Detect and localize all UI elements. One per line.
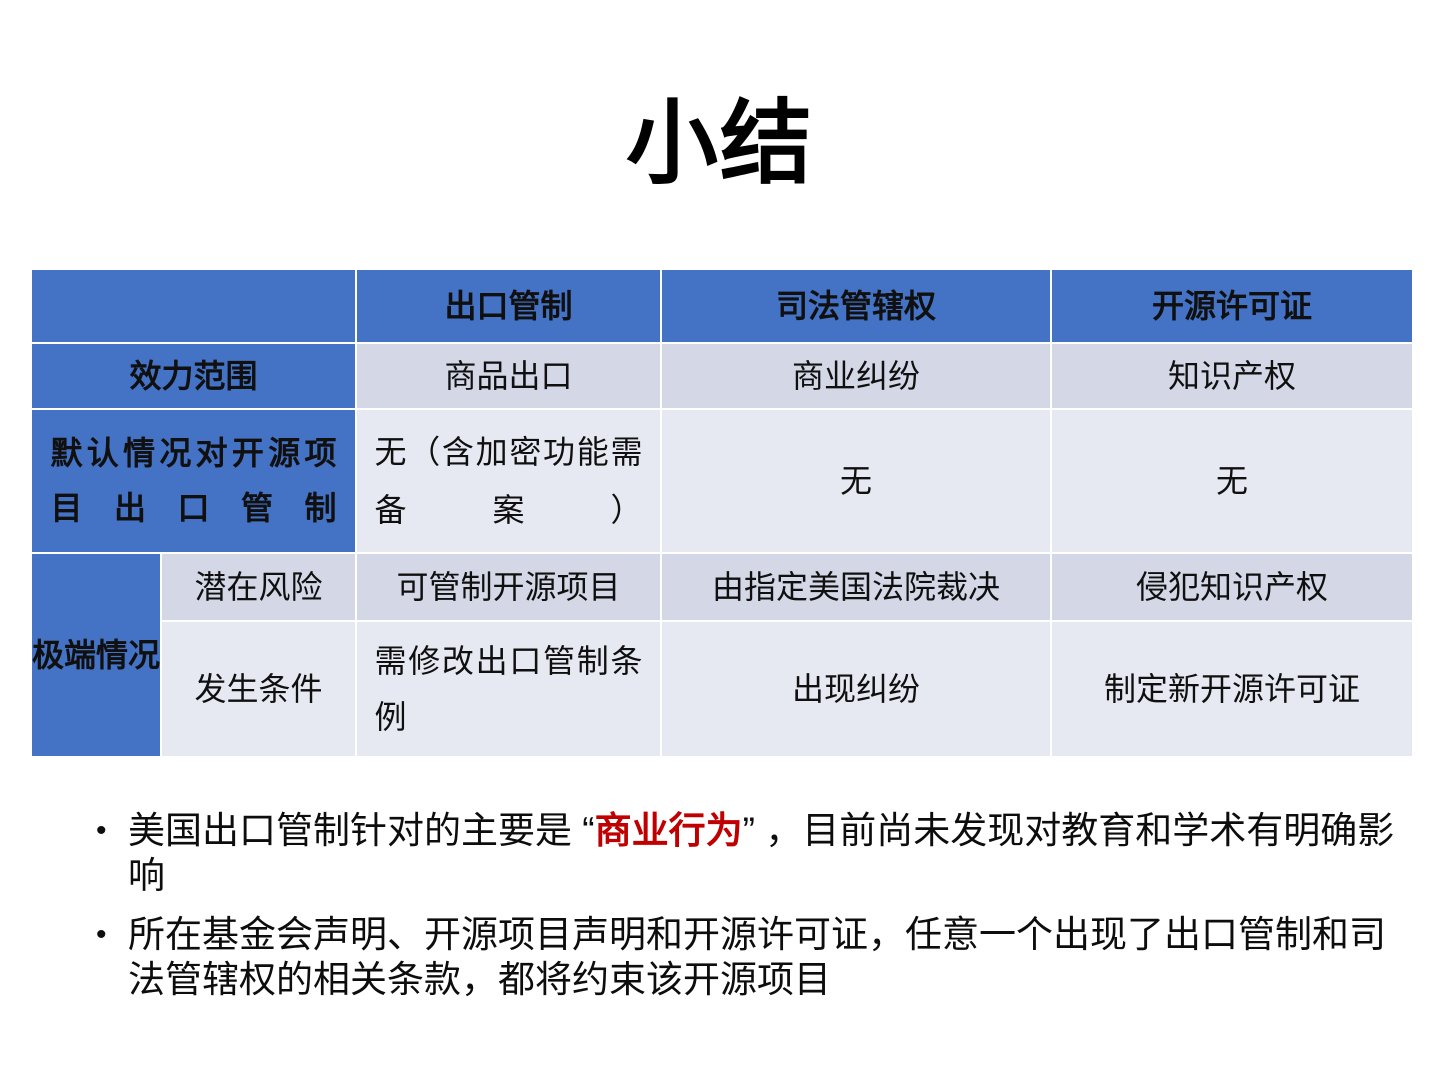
cell-condition-jurisdiction: 出现纠纷 bbox=[662, 622, 1050, 756]
list-item: • 所在基金会声明、开源项目声明和开源许可证，任意一个出现了出口管制和司法管辖权… bbox=[96, 912, 1396, 1002]
bullet-text-2: 所在基金会声明、开源项目声明和开源许可证，任意一个出现了出口管制和司法管辖权的相… bbox=[128, 912, 1396, 1002]
comparison-table: 出口管制 司法管辖权 开源许可证 效力范围 商品出口 商业纠纷 知识产权 默认情… bbox=[30, 268, 1414, 758]
sub-label-trigger-condition: 发生条件 bbox=[162, 622, 355, 756]
table-row: 极端情况 潜在风险 可管制开源项目 由指定美国法院裁决 侵犯知识产权 bbox=[32, 554, 1412, 620]
row-label-scope: 效力范围 bbox=[32, 344, 355, 408]
table-header-col-license: 开源许可证 bbox=[1052, 270, 1412, 342]
bullet-1-pre: 美国出口管制针对的主要是 “ bbox=[128, 810, 595, 851]
row-label-default-control: 默认情况对开源项目出口管制 bbox=[32, 410, 355, 552]
cell-condition-license: 制定新开源许可证 bbox=[1052, 622, 1412, 756]
table-header-row: 出口管制 司法管辖权 开源许可证 bbox=[32, 270, 1412, 342]
page-title: 小结 bbox=[0, 92, 1440, 196]
cell-default-export-control: 无（含加密功能需备案） bbox=[357, 410, 660, 552]
cell-scope-export-control: 商品出口 bbox=[357, 344, 660, 408]
cell-default-license: 无 bbox=[1052, 410, 1412, 552]
cell-condition-export-control-text: 需修改出口管制条例 bbox=[375, 633, 643, 745]
table-header-col-jurisdiction: 司法管辖权 bbox=[662, 270, 1050, 342]
bullet-marker-icon: • bbox=[96, 912, 128, 957]
cell-scope-license: 知识产权 bbox=[1052, 344, 1412, 408]
row-group-label-extreme: 极端情况 bbox=[32, 554, 160, 756]
cell-risk-export-control: 可管制开源项目 bbox=[357, 554, 660, 620]
bullet-list: • 美国出口管制针对的主要是 “商业行为” ，目前尚未发现对教育和学术有明确影响… bbox=[96, 808, 1396, 1016]
cell-risk-license: 侵犯知识产权 bbox=[1052, 554, 1412, 620]
table-header-col-export-control: 出口管制 bbox=[357, 270, 660, 342]
cell-default-export-control-text: 无（含加密功能需备案） bbox=[375, 423, 643, 539]
table-header-corner bbox=[32, 270, 355, 342]
table-row: 发生条件 需修改出口管制条例 出现纠纷 制定新开源许可证 bbox=[32, 622, 1412, 756]
bullet-marker-icon: • bbox=[96, 808, 128, 853]
bullet-text-1: 美国出口管制针对的主要是 “商业行为” ，目前尚未发现对教育和学术有明确影响 bbox=[128, 808, 1396, 898]
row-group-label-extreme-text: 极端情况 bbox=[32, 637, 160, 673]
bullet-1-highlight: 商业行为 bbox=[595, 810, 743, 851]
cell-default-jurisdiction: 无 bbox=[662, 410, 1050, 552]
table-row: 默认情况对开源项目出口管制 无（含加密功能需备案） 无 无 bbox=[32, 410, 1412, 552]
row-label-default-control-text: 默认情况对开源项目出口管制 bbox=[51, 426, 337, 536]
table-row: 效力范围 商品出口 商业纠纷 知识产权 bbox=[32, 344, 1412, 408]
cell-condition-export-control: 需修改出口管制条例 bbox=[357, 622, 660, 756]
list-item: • 美国出口管制针对的主要是 “商业行为” ，目前尚未发现对教育和学术有明确影响 bbox=[96, 808, 1396, 898]
sub-label-potential-risk: 潜在风险 bbox=[162, 554, 355, 620]
cell-risk-jurisdiction: 由指定美国法院裁决 bbox=[662, 554, 1050, 620]
cell-scope-jurisdiction: 商业纠纷 bbox=[662, 344, 1050, 408]
